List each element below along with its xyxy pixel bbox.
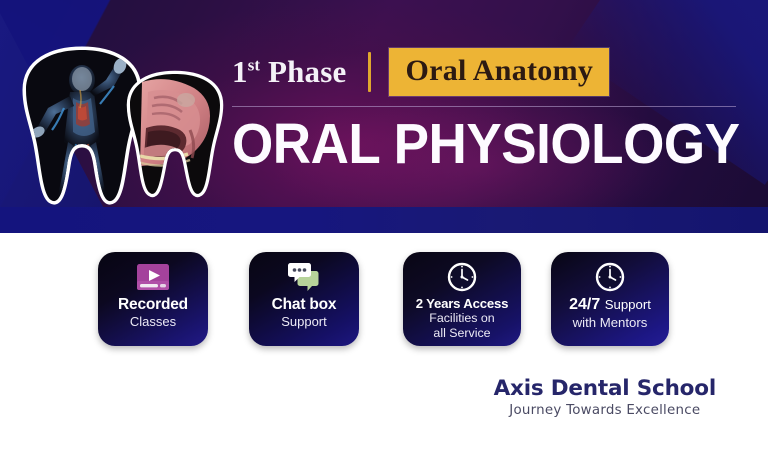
clock-icon xyxy=(595,261,625,293)
headline-separator xyxy=(368,52,371,92)
subject-badge: Oral Anatomy xyxy=(389,48,609,96)
feature-card-list: Recorded Classes Chat box Support xyxy=(0,252,768,356)
feature-card-two-years-access[interactable]: 2 Years Access Facilities on all Service xyxy=(403,252,521,346)
card-line-secondary: Support xyxy=(272,314,337,329)
card-line-secondary: Facilities on xyxy=(416,311,509,325)
video-player-icon xyxy=(136,261,170,293)
brand-tagline: Journey Towards Excellence xyxy=(494,403,716,418)
card-line-tertiary: all Service xyxy=(416,326,509,340)
headline-block: 1st Phase Oral Anatomy ORAL PHYSIOLOGY xyxy=(232,48,738,173)
phase-label: 1st Phase xyxy=(232,54,346,90)
feature-card-text: Recorded Classes xyxy=(118,296,188,329)
feature-card-text: 24/7 Support with Mentors xyxy=(569,296,651,330)
feature-card-24-7-support[interactable]: 24/7 Support with Mentors xyxy=(551,252,669,346)
card-line-primary: 2 Years Access xyxy=(416,296,509,311)
headline-divider xyxy=(232,106,736,107)
card-line-primary-normal: Support xyxy=(605,297,651,312)
card-line-secondary: with Mentors xyxy=(569,315,651,330)
promo-banner: 1st Phase Oral Anatomy ORAL PHYSIOLOGY xyxy=(0,0,768,472)
phase-number: 1 xyxy=(232,54,248,89)
phase-word: Phase xyxy=(268,54,347,89)
brand-logo: Axis Dental School Journey Towards Excel… xyxy=(494,376,716,418)
feature-card-text: 2 Years Access Facilities on all Service xyxy=(416,296,509,340)
tooth-right xyxy=(124,70,226,200)
card-line-primary: 24/7 Support xyxy=(569,296,651,315)
tooth-artwork xyxy=(18,28,233,218)
feature-card-chat-box[interactable]: Chat box Support xyxy=(249,252,359,346)
hero-panel: 1st Phase Oral Anatomy ORAL PHYSIOLOGY xyxy=(0,0,768,233)
clock-icon xyxy=(447,261,477,293)
card-line-primary: Chat box xyxy=(272,296,337,314)
feature-card-text: Chat box Support xyxy=(272,296,337,329)
page-title: ORAL PHYSIOLOGY xyxy=(232,115,703,173)
chat-bubbles-icon xyxy=(286,261,322,293)
card-line-primary-bold: 24/7 xyxy=(569,296,600,313)
card-line-secondary: Classes xyxy=(118,314,188,329)
card-line-primary: Recorded xyxy=(118,296,188,314)
brand-name: Axis Dental School xyxy=(494,376,716,401)
feature-card-recorded-classes[interactable]: Recorded Classes xyxy=(98,252,208,346)
phase-ordinal: st xyxy=(248,56,260,75)
